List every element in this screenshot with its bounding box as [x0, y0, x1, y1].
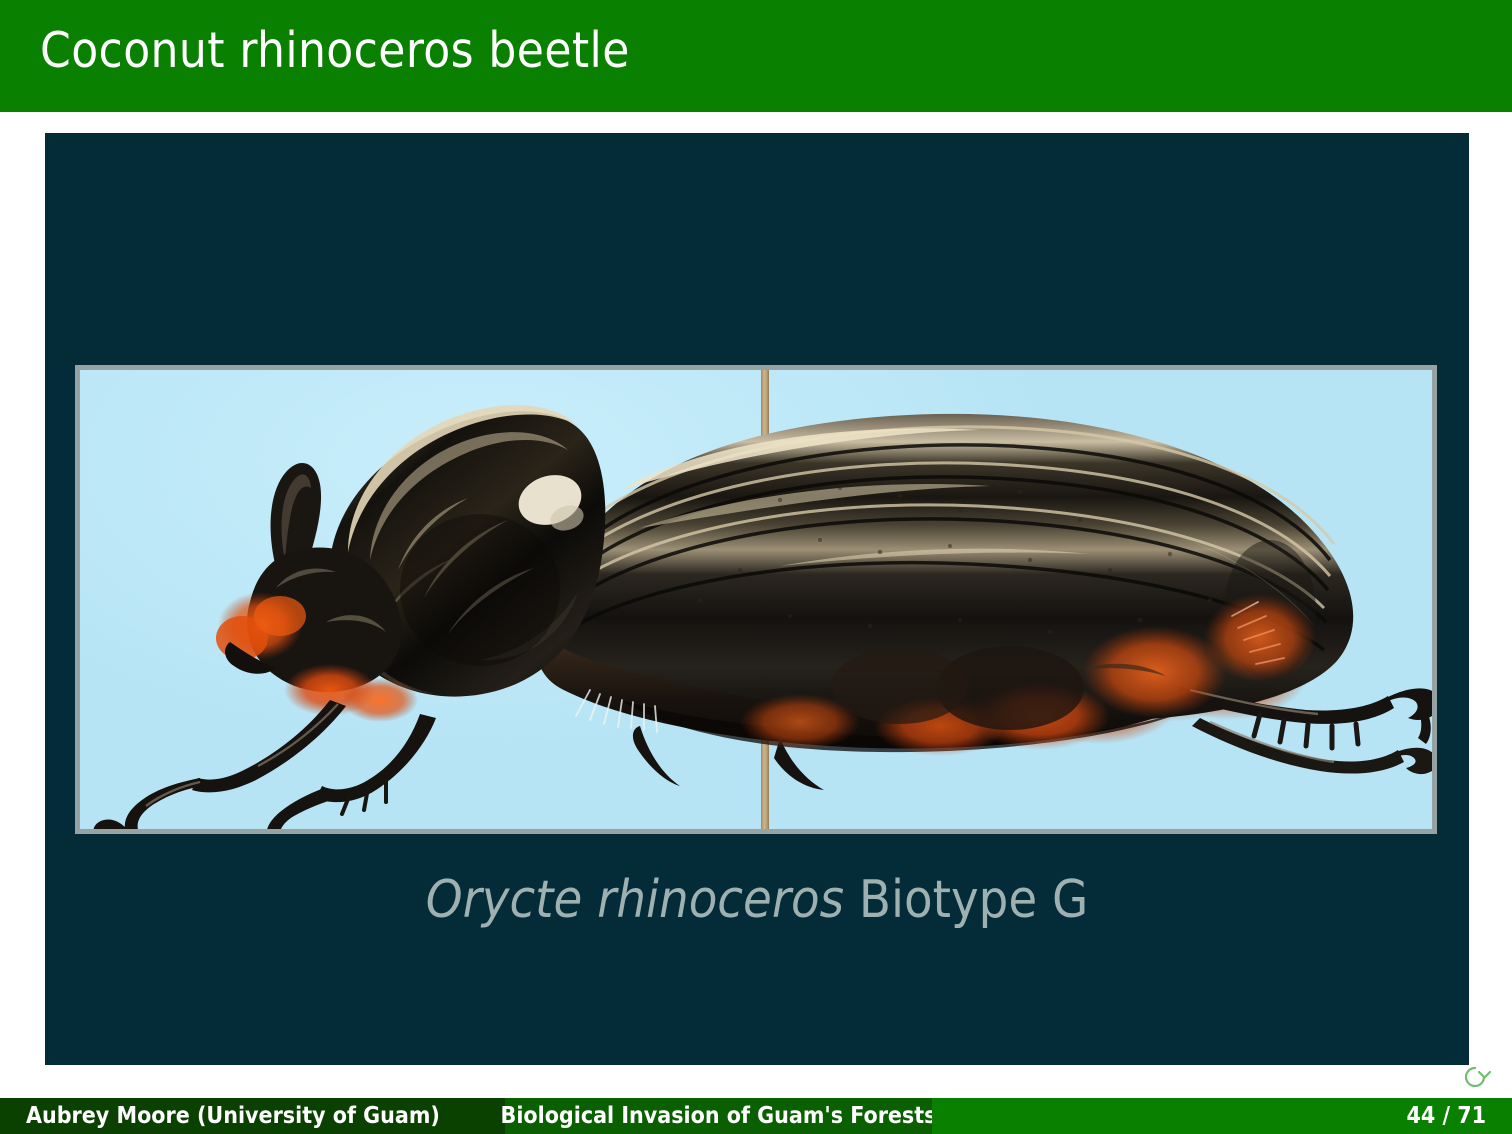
footer-presentation-title: Biological Invasion of Guam's Forests: [505, 1098, 932, 1134]
footer-page-number: 44 / 71: [932, 1098, 1512, 1134]
photo-caption: Orycte rhinoceros Biotype G: [45, 870, 1469, 930]
slide-footer: Aubrey Moore (University of Guam) Biolog…: [0, 1098, 1512, 1134]
footer-author: Aubrey Moore (University of Guam): [0, 1098, 505, 1134]
header-underline: [0, 108, 1512, 112]
page-title: Coconut rhinoceros beetle: [40, 26, 630, 75]
footer-title-label: Biological Invasion of Guam's Forests: [501, 1103, 937, 1129]
beetle-specimen-illustration: [80, 370, 1432, 829]
beetle-photo: [80, 370, 1432, 829]
caption-suffix: Biotype G: [844, 870, 1088, 930]
slide-content-panel: Orycte rhinoceros Biotype G: [45, 133, 1469, 1065]
footer-page-label: 44 / 71: [1406, 1103, 1486, 1129]
footer-author-label: Aubrey Moore (University of Guam): [26, 1103, 440, 1129]
rotate-clockwise-icon[interactable]: [1459, 1063, 1493, 1091]
caption-scientific-name: Orycte rhinoceros: [426, 870, 844, 930]
beetle-photo-frame: [75, 365, 1437, 834]
